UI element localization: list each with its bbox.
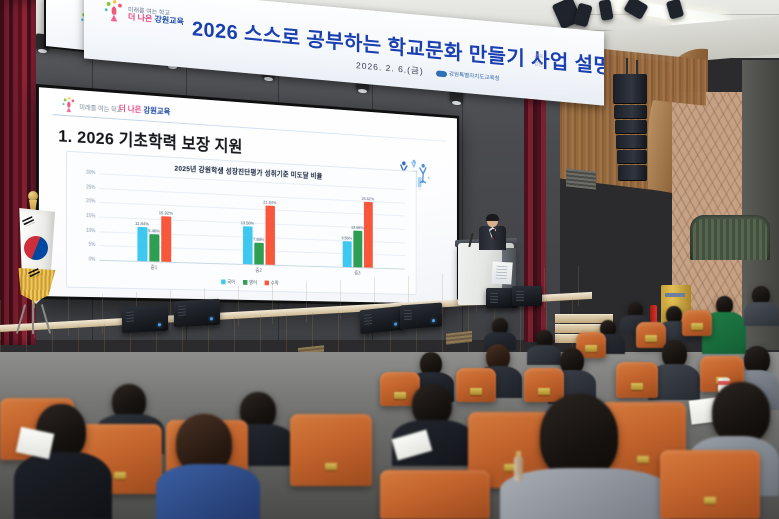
chart-bar-value-label: 13.58% [351,225,364,230]
slide-logo-brand: 더 나은 강원교육 [119,103,170,117]
gangwon-education-logo-icon [60,96,77,114]
chart-bar-value-label: 9.48% [148,228,160,233]
seat[interactable] [616,362,658,398]
chart-bar: 21.54% [265,205,274,265]
podium-document [491,261,513,284]
gangwon-education-logo-icon [102,0,126,24]
seat[interactable] [290,414,372,486]
chart-legend-item: 국어 [221,279,235,286]
speaker-grille-icon [126,312,134,322]
seat[interactable] [456,368,496,402]
wall-vent [566,168,596,189]
chart-x-tick-label: 중3 [354,270,360,277]
power-led-icon [210,317,213,320]
stage-monitor [122,305,168,333]
power-led-icon [158,323,161,326]
chart-x-tick-label: 중1 [150,264,157,271]
speaker-bracket [626,58,628,74]
water-bottle [514,456,523,482]
attendee-shoulders [527,345,561,365]
chart-plot-area: 0%5%10%15%20%25%30%11.84%9.48%15.92%중113… [99,173,405,268]
chart-card: 2025년 강원학생 성장진단평가 성취기준 미도달 비율 0%5%10%15%… [66,151,417,295]
power-led-icon [394,322,397,325]
stage-monitor [174,299,220,327]
flag-finial [28,191,38,201]
chart-bar: 13.58% [243,226,253,264]
banner-organization: 강원특별자치도교육청 [436,68,500,82]
chart-x-tick-label: 중2 [255,267,262,274]
chart-y-tick-label: 0% [89,257,96,263]
attendee-head [712,382,770,444]
flag-stand-leg [41,304,51,333]
chart-bar: 9.56% [342,241,351,267]
chart-bar-group: 11.84%9.48%15.92%중1 [99,173,207,263]
stage-monitor [512,286,542,306]
korean-flag [4,196,66,336]
seat[interactable] [524,368,564,402]
chart-legend-swatch [221,280,225,285]
chart-y-tick-label: 10% [86,228,95,234]
seat[interactable] [380,470,490,519]
seat[interactable] [636,322,666,348]
chart-legend-swatch [243,280,247,285]
stage-monitor [400,303,442,330]
chart-bar-value-label: 15.92% [159,211,173,216]
speaker-grille-icon [516,291,524,301]
auditorium-photo: 미래를 여는 학교 더 나은 강원교육 미래를 여는 학교 [0,0,779,519]
line-array-speaker [612,72,648,182]
chart-bar-value-label: 21.54% [263,200,276,205]
chart-bar: 7.88% [254,243,263,265]
green-drape-niche [690,215,770,260]
chart-bar: 15.92% [161,216,171,261]
speaker-grille-icon [404,310,412,321]
attendee-shoulders [500,468,670,519]
stage-vent [446,331,472,345]
speaker-bracket [636,60,638,74]
flag-stand [18,304,50,334]
speaker-grille-icon [490,293,498,303]
chart-bar-value-label: 7.88% [253,237,264,242]
chart-bar: 24.62% [363,202,372,268]
presenter-hair [486,214,499,221]
chart-bar-value-label: 11.84% [135,221,149,226]
chart-y-tick-label: 20% [86,199,95,205]
chart-legend-label: 국어 [227,280,235,286]
chart-bar-value-label: 13.58% [241,221,255,226]
projection-screen: 미래를 여는 학교 더 나은 강원교육 1. 2026 기초학력 보장 지원 [36,84,459,307]
chart-y-tick-label: 5% [89,242,96,248]
attendee-shoulders [156,464,260,519]
seat[interactable] [682,310,712,336]
banner-date: 2026. 2. 6.(금) [356,59,424,77]
banner-logo-brand: 더 나은 강원교육 [128,11,184,27]
seat[interactable] [660,450,760,519]
chart-y-tick-label: 30% [86,170,95,176]
flag-stand-leg [32,304,34,334]
power-led-icon [432,319,435,322]
chart-bar-groups: 11.84%9.48%15.92%중113.58%7.88%21.54%중29.… [99,173,405,268]
stage-monitor [360,306,405,335]
attendee-shoulders [14,452,112,519]
speaker-module [614,105,647,119]
chart-bar-value-label: 24.62% [362,196,375,201]
flag-stand-leg [16,304,26,333]
chart-bar-group: 13.58%7.88%21.54%중2 [207,179,309,266]
speaker-module [616,135,647,149]
banner-side-logo: 교육강원 [534,53,543,69]
speaker-module [613,74,647,104]
attendee-shoulders [744,302,779,326]
chart-bar-value-label: 9.56% [341,236,352,241]
presentation-slide: 미래를 여는 학교 더 나은 강원교육 1. 2026 기초학력 보장 지원 [39,87,457,304]
speaker-module [617,150,647,164]
slide-logo-tagline: 미래를 여는 학교 [79,101,122,114]
speaker-grille-icon [364,314,372,325]
speaker-grille-icon [178,306,186,316]
chart-bar-group: 9.56%13.58%24.62%중3 [309,184,405,268]
chart-bar: 9.48% [149,234,159,261]
banner-logo: 미래를 여는 학교 더 나은 강원교육 [102,0,188,34]
speaker-module [618,165,647,181]
chart-y-tick-label: 15% [86,213,95,219]
chart-bar: 11.84% [137,227,147,261]
org-mark-icon [436,70,447,77]
presenter [478,215,508,249]
chart-y-tick-label: 25% [86,184,95,190]
speaker-module [615,120,647,134]
chart-bar: 13.58% [353,231,362,268]
